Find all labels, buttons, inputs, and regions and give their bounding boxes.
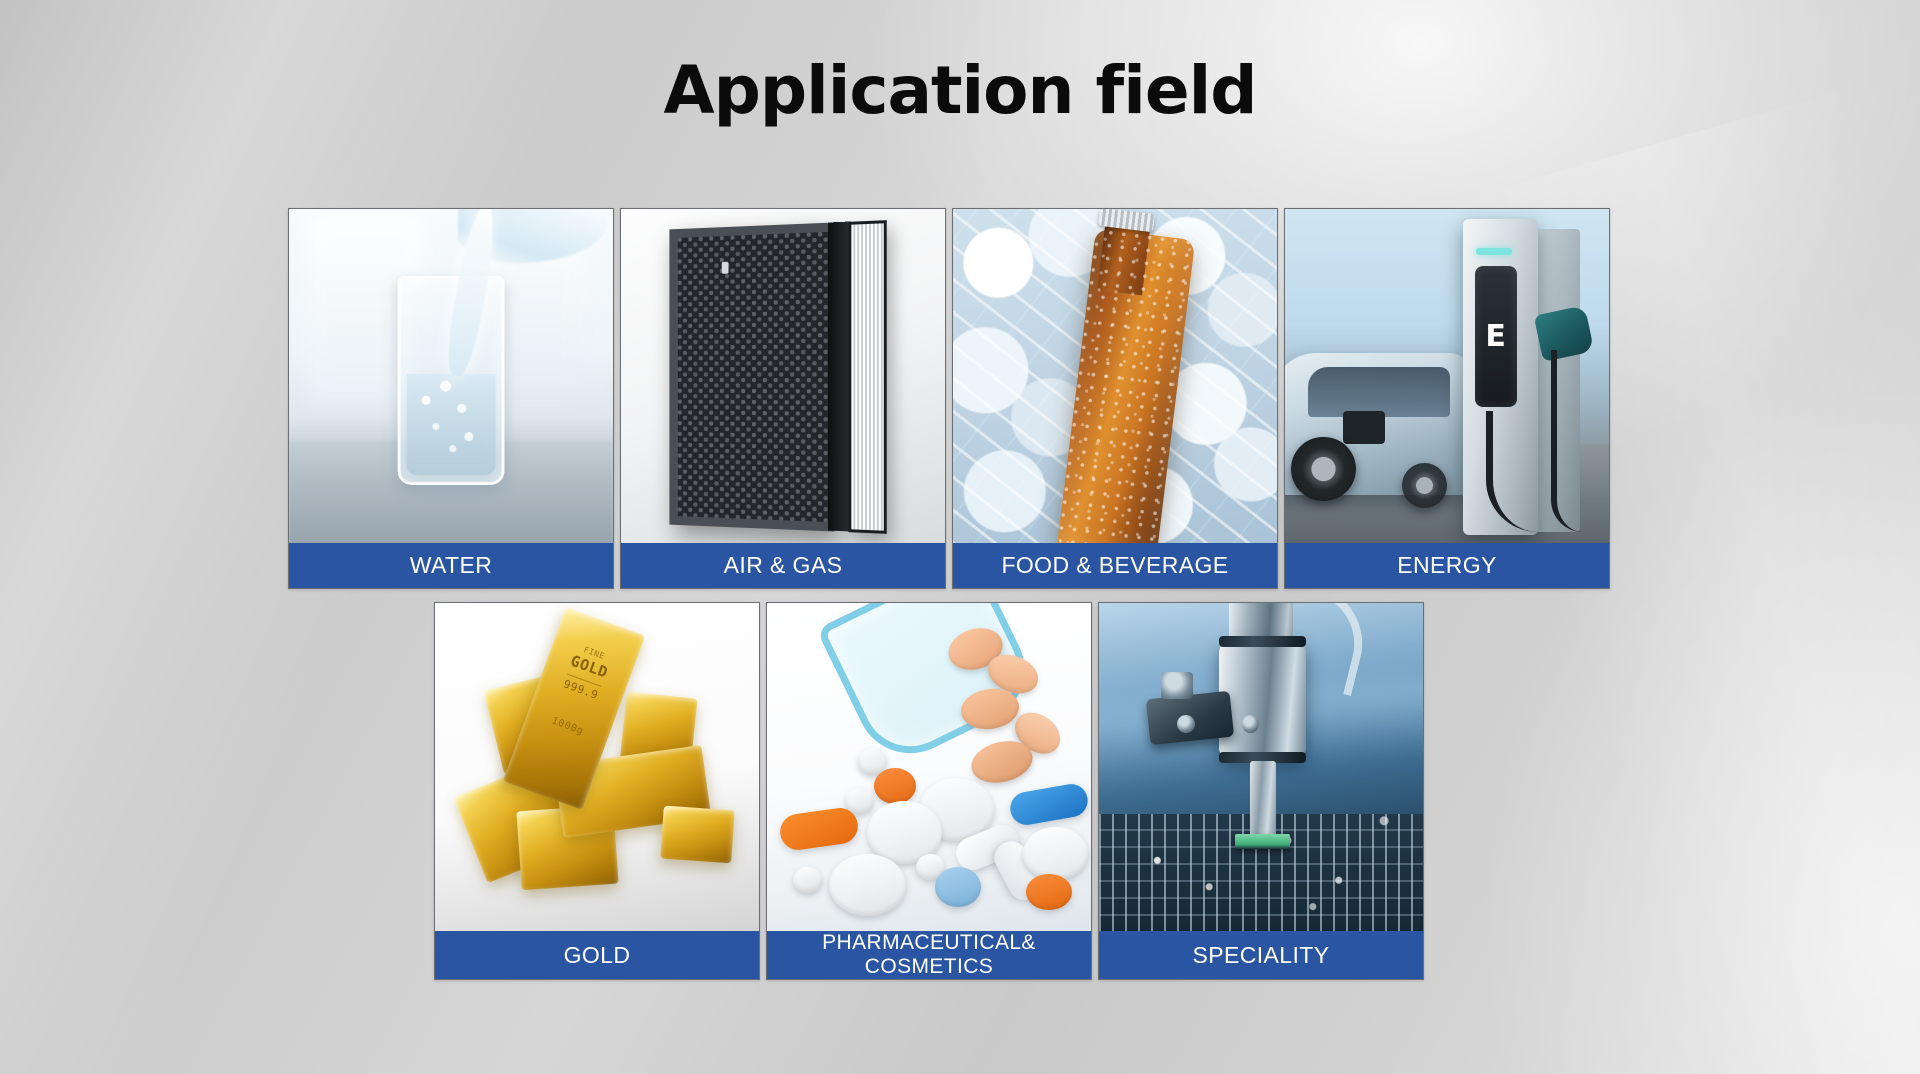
gold-bars-icon: FINE GOLD 999.9 1000g [435,603,759,933]
application-card-speciality[interactable]: SPECIALITY [1098,602,1424,980]
air-gas-thumbnail [621,209,945,545]
air-filter-icon [621,209,945,545]
energy-thumbnail: E [1285,209,1609,545]
card-label-food-beverage: FOOD & BEVERAGE [953,543,1277,588]
machine-head-icon [1099,603,1423,933]
application-card-grid: WATER AIR & GAS [0,0,1920,1074]
application-field-slide: Application field WATER [0,0,1920,1074]
application-card-pharmaceutical-cosmetics[interactable]: PHARMACEUTICAL& COSMETICS [766,602,1092,980]
application-card-air-gas[interactable]: AIR & GAS [620,208,946,589]
application-card-gold[interactable]: FINE GOLD 999.9 1000g GOLD [434,602,760,980]
water-glass-icon [289,209,613,545]
water-thumbnail [289,209,613,545]
speciality-thumbnail [1099,603,1423,933]
beer-bottle-icon [953,209,1277,545]
application-card-water[interactable]: WATER [288,208,614,589]
ev-charger-icon: E [1285,209,1609,545]
card-label-line2: COSMETICS [865,955,993,978]
card-label-water: WATER [289,543,613,588]
gold-thumbnail: FINE GOLD 999.9 1000g [435,603,759,933]
card-label-speciality: SPECIALITY [1099,931,1423,979]
gold-bar-weight-text: 1000g [550,716,585,738]
pharmaceutical-thumbnail [767,603,1091,933]
page-title: Application field [0,52,1920,129]
pills-icon [767,603,1091,933]
food-beverage-thumbnail [953,209,1277,545]
card-label-line1: PHARMACEUTICAL& [822,931,1036,954]
charger-display-text: E [1475,266,1517,407]
card-label-gold: GOLD [435,931,759,979]
card-label-energy: ENERGY [1285,543,1609,588]
application-card-energy[interactable]: E ENERGY [1284,208,1610,589]
card-label-pharmaceutical-cosmetics: PHARMACEUTICAL& COSMETICS [767,931,1091,979]
card-label-air-gas: AIR & GAS [621,543,945,588]
application-card-food-beverage[interactable]: FOOD & BEVERAGE [952,208,1278,589]
